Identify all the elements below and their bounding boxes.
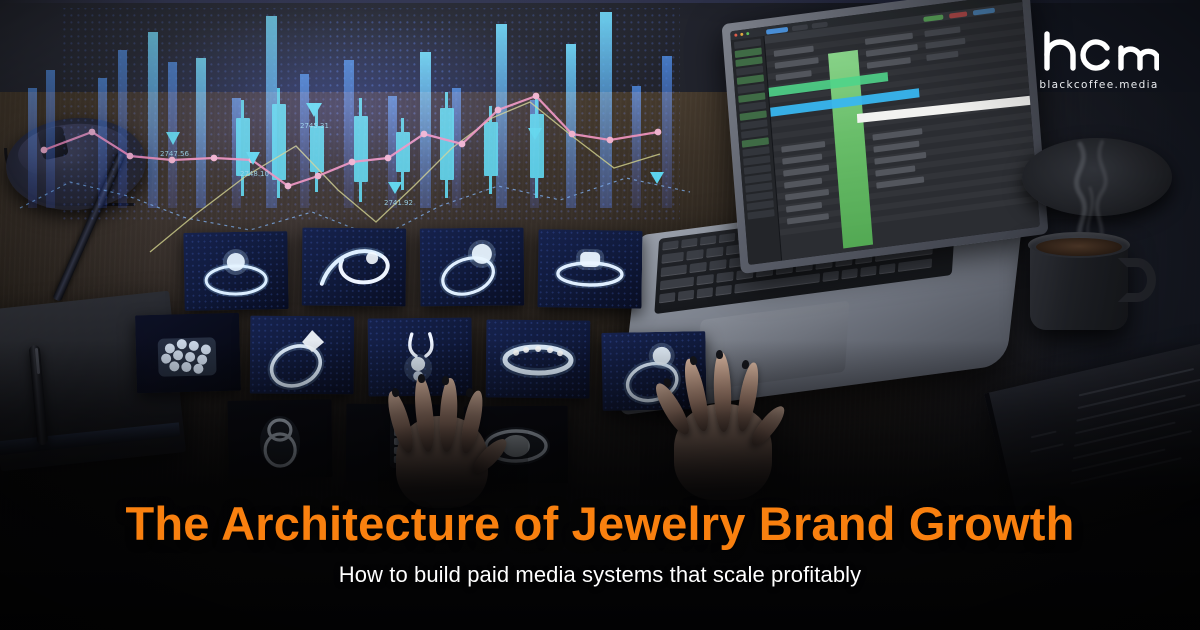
dashboard-ui [730,0,1040,265]
mug-handle [1118,258,1156,302]
svg-text:2741.92: 2741.92 [384,199,413,207]
coffee-liquid [1036,238,1122,256]
logo-tagline: blackcoffee.media [1034,79,1164,91]
svg-text:2745.31: 2745.31 [300,122,329,130]
diamond-bracelet-icon [302,228,407,307]
jewelry-card-diamond-bracelet[interactable] [302,228,407,307]
halo-ring-icon [420,228,525,307]
page-title: The Architecture of Jewelry Brand Growth [0,499,1200,550]
jewelry-card-halo-ring[interactable] [420,228,525,307]
laptop-screen[interactable] [730,0,1040,265]
dashboard-data-grid[interactable] [764,2,1039,261]
svg-text:2747.56: 2747.56 [160,150,189,158]
solitaire-ring-icon [183,231,288,311]
brand-logo[interactable]: blackcoffee.media [1034,30,1164,91]
jewelry-card-solitaire-ring[interactable] [183,231,288,311]
page-subtitle: How to build paid media systems that sca… [0,562,1200,588]
bcm-wordmark-icon [1039,30,1159,74]
svg-text:2748.10: 2748.10 [240,170,269,178]
banner-root: 2745.31 2747.56 2748.10 2741.92 [0,0,1200,630]
jewelry-card-cushion-ring[interactable] [537,229,642,308]
laptop-lid [722,0,1049,274]
headline-block: The Architecture of Jewelry Brand Growth… [0,499,1200,588]
sidebar-item[interactable] [747,209,774,220]
cushion-ring-icon [537,229,642,308]
